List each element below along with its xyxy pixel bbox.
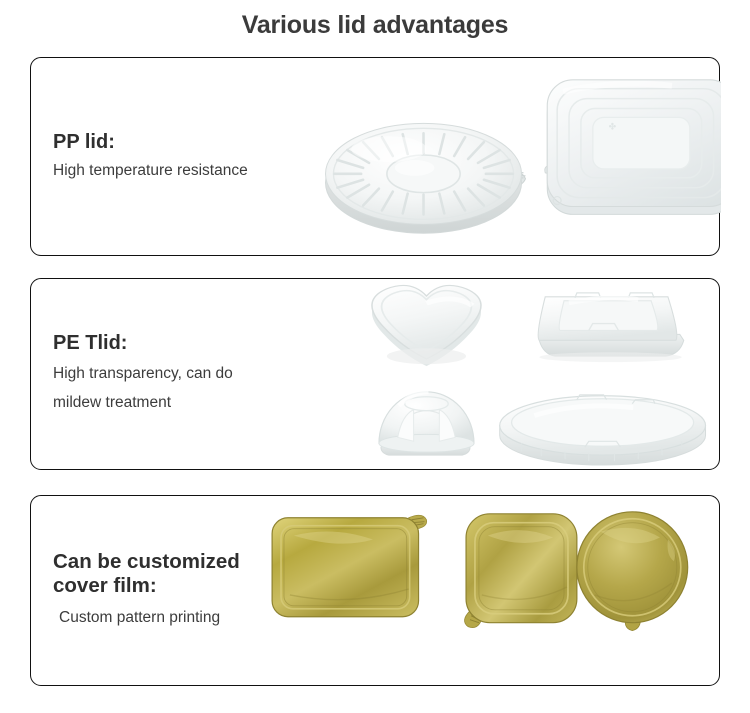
pe-tlid-subtext: High transparency, can do mildew treatme… (53, 359, 233, 417)
round-gold-foil-illustration (577, 512, 688, 631)
card-pe-tlid: PE Tlid: High transparency, can do milde… (30, 278, 720, 470)
pe-tlid-heading: PE Tlid: (53, 331, 233, 356)
pp-lid-heading: PP lid: (53, 130, 248, 155)
infographic-page: Various lid advantages (0, 0, 750, 713)
pp-lid-subtext: High temperature resistance (53, 158, 248, 184)
cover-film-text-block: Can be customized cover film: Custom pat… (31, 550, 240, 631)
oval-pe-lid-illustration (500, 395, 706, 465)
rectangular-pp-lid-illustration: ✤ (545, 80, 721, 215)
cover-film-heading: Can be customized cover film: (53, 550, 240, 598)
card-pp-lid: ✤ PP lid: High temperature resistance (30, 57, 720, 256)
square-gold-foil-illustration (465, 514, 577, 628)
page-title: Various lid advantages (0, 8, 750, 42)
rectangular-gold-foil-illustration (272, 515, 427, 616)
round-pp-lid-illustration (326, 123, 526, 233)
square-pe-lid-illustration (538, 293, 684, 362)
heart-pe-lid-illustration (372, 285, 481, 366)
card-custom-cover-film: Can be customized cover film: Custom pat… (30, 495, 720, 686)
dome-pe-lid-illustration (379, 392, 474, 455)
pe-tlid-text-block: PE Tlid: High transparency, can do milde… (31, 331, 233, 417)
svg-text:✤: ✤ (609, 121, 617, 131)
cover-film-subtext: Custom pattern printing (53, 605, 240, 631)
pp-lid-text-block: PP lid: High temperature resistance (31, 130, 248, 184)
